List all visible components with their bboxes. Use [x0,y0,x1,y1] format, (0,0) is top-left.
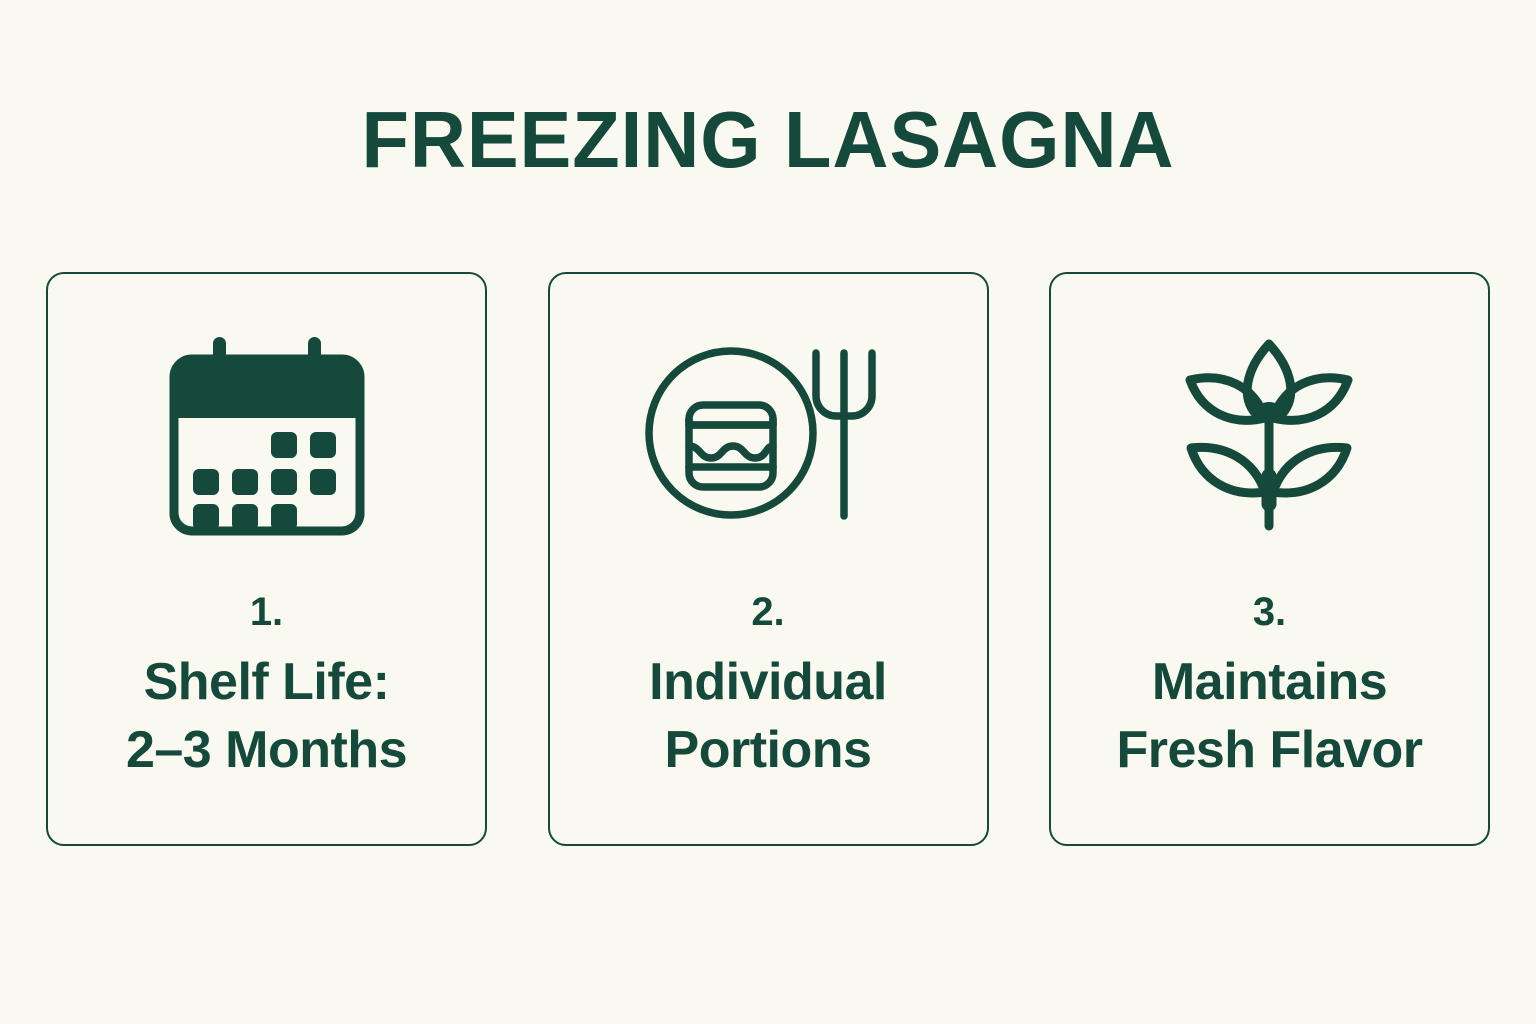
card-label: Maintains Fresh Flavor [1098,648,1440,784]
card-row: 1. Shelf Life: 2–3 Months [46,272,1490,846]
card-fresh-flavor[interactable]: 3. Maintains Fresh Flavor [1049,272,1490,846]
card-number: 1. [250,590,283,634]
card-label: Individual Portions [631,648,905,784]
card-label: Shelf Life: 2–3 Months [108,648,425,784]
card-label-line-1: Shelf Life: [126,648,407,716]
herb-sprig-icon [1162,318,1377,548]
card-label-line-1: Maintains [1116,648,1422,716]
card-label-line-2: 2–3 Months [126,716,407,784]
card-number: 2. [751,590,784,634]
card-label-line-1: Individual [649,648,887,716]
card-individual-portions[interactable]: 2. Individual Portions [548,272,989,846]
page-title: FREEZING LASAGNA [23,98,1513,182]
calendar-icon [167,318,367,548]
card-label-line-2: Portions [649,716,887,784]
card-shelf-life[interactable]: 1. Shelf Life: 2–3 Months [46,272,487,846]
card-label-line-2: Fresh Flavor [1116,716,1422,784]
plate-with-food-and-fork-icon [643,318,893,548]
infographic-poster: FREEZING LASAGNA [0,0,1536,1024]
card-number: 3. [1253,590,1286,634]
